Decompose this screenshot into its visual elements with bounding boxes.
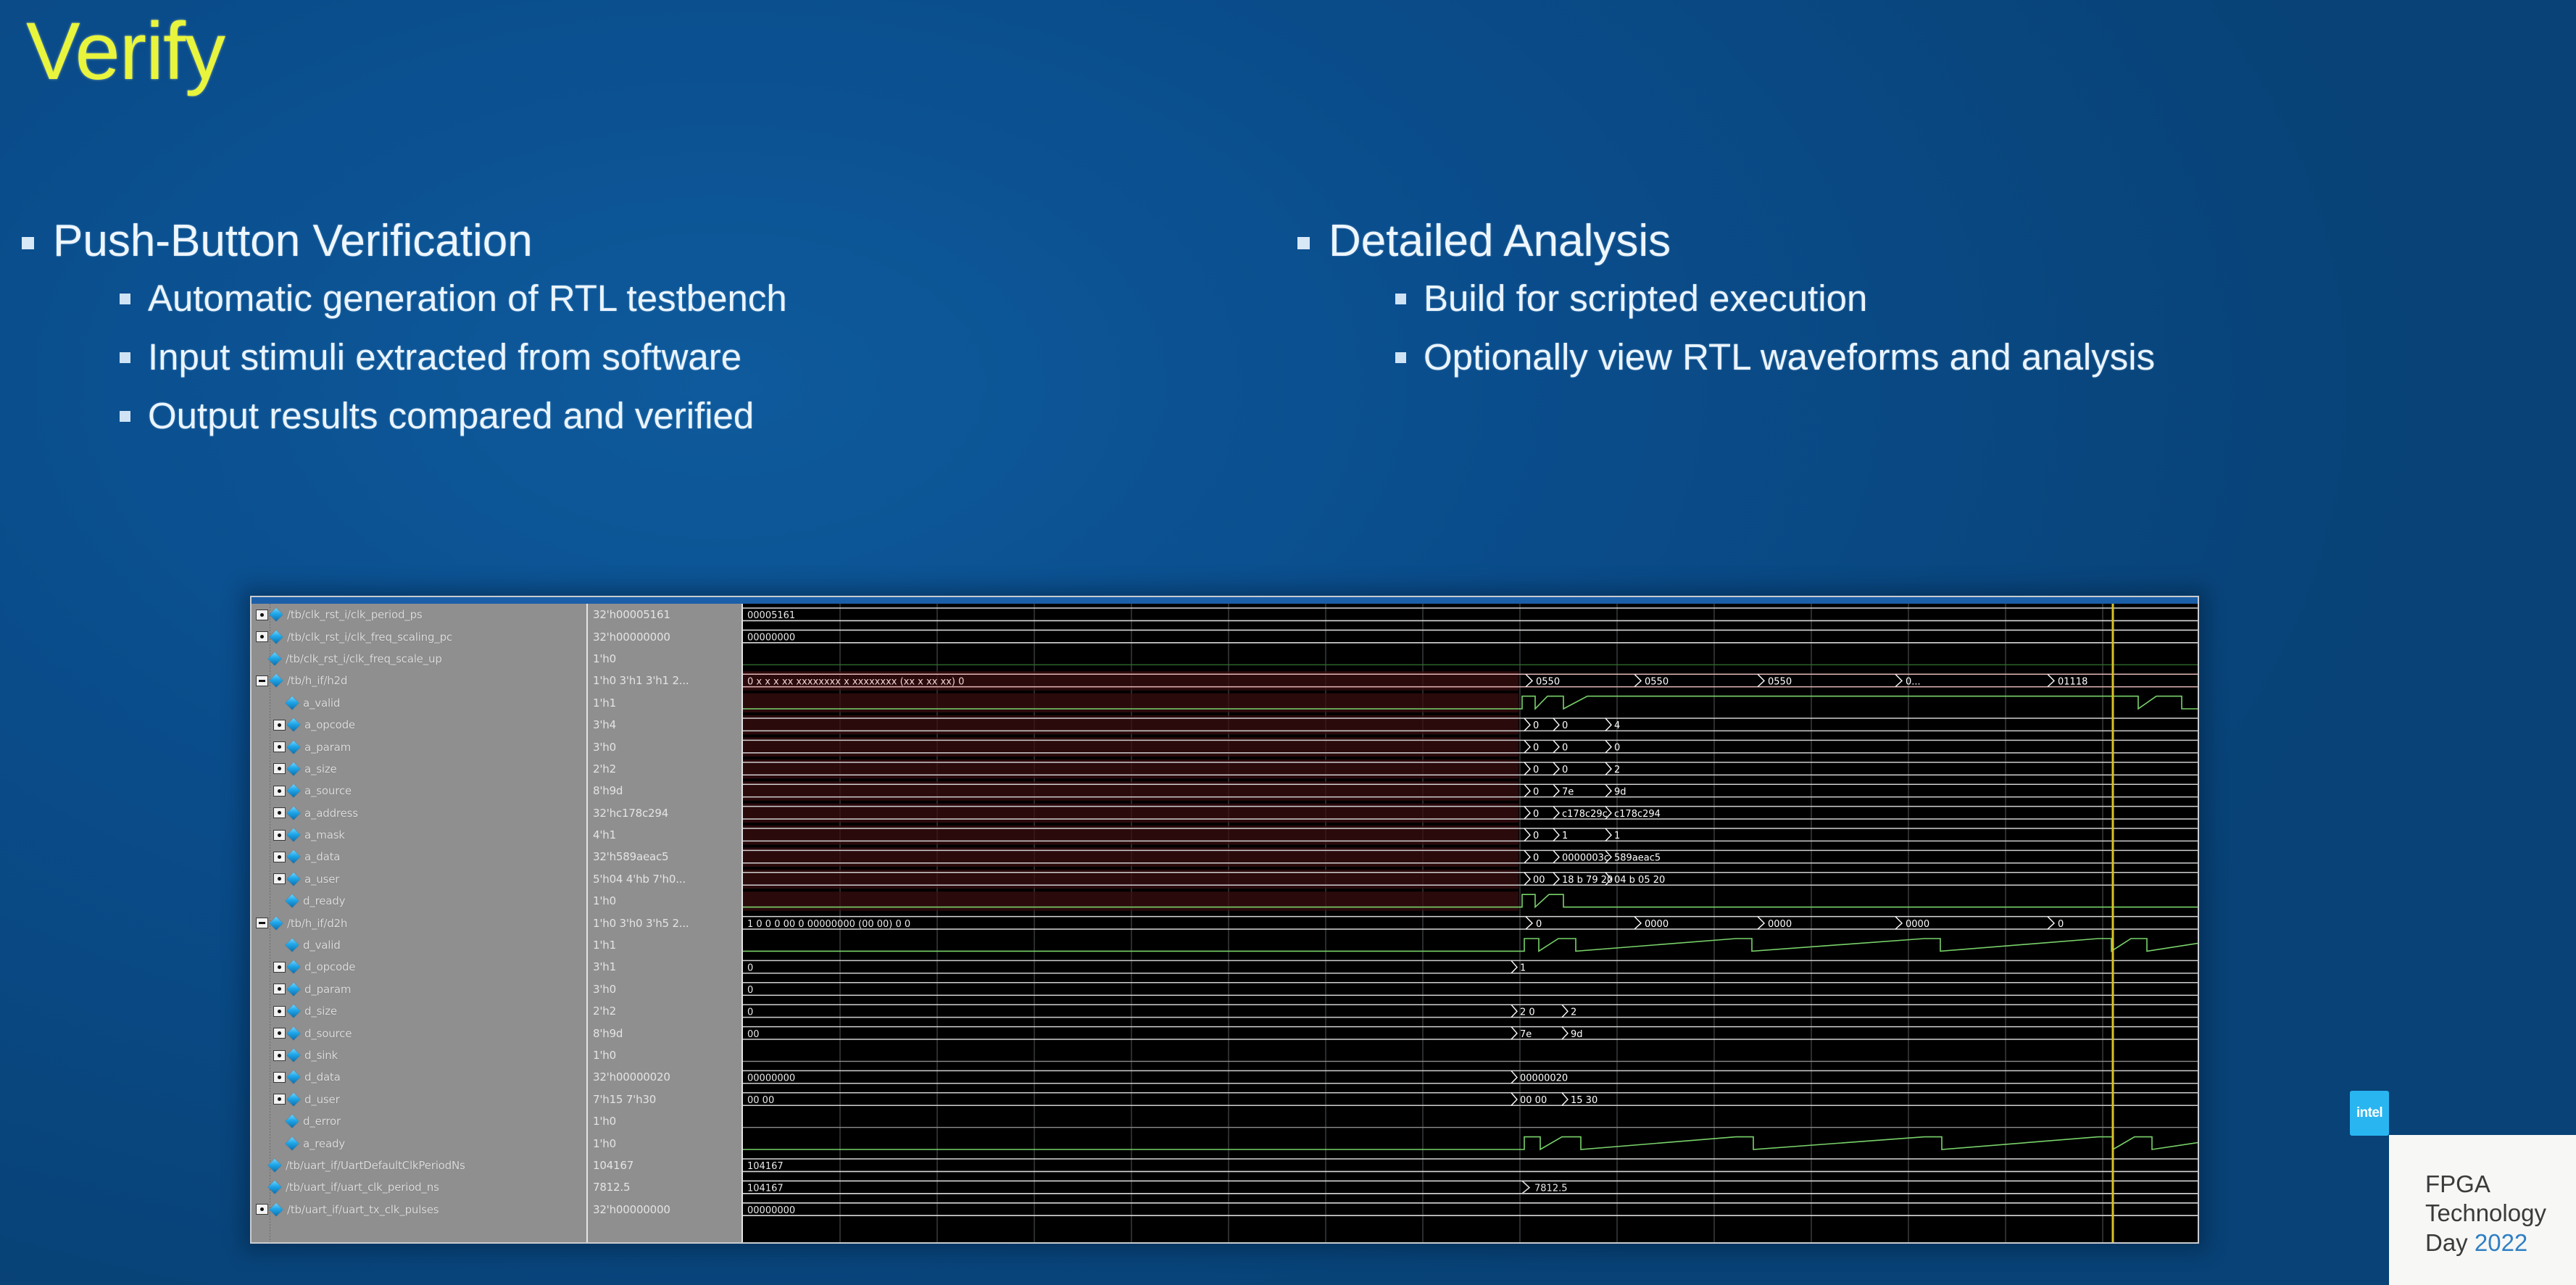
expand-icon[interactable]: [273, 1072, 286, 1083]
tree-leaf-icon: [273, 1117, 284, 1126]
signal-type-icon: [270, 1202, 283, 1216]
signal-value-label: 8'h9d: [588, 1027, 623, 1040]
signal-value-row: 8'h9d: [588, 780, 741, 802]
signal-row[interactable]: /tb/h_if/h2d: [252, 670, 586, 691]
svg-text:0: 0: [1533, 831, 1539, 841]
signal-value-row: 2'h2: [588, 1000, 741, 1022]
signal-name-label: d_sink: [304, 1049, 338, 1062]
svg-text:00000000: 00000000: [747, 1205, 795, 1216]
signal-type-icon: [286, 894, 299, 908]
signal-type-icon: [286, 696, 299, 710]
signal-name-label: a_opcode: [304, 718, 355, 731]
signal-value-label: 3'h4: [588, 718, 616, 731]
expand-icon[interactable]: [273, 741, 286, 752]
signal-value-row: 1'h0: [588, 1044, 741, 1066]
signal-row[interactable]: /tb/uart_if/UartDefaultClkPeriodNs: [252, 1155, 586, 1176]
expand-icon[interactable]: [256, 1204, 268, 1215]
signal-name-label: /tb/clk_rst_i/clk_freq_scaling_pc: [287, 631, 452, 644]
signal-value-row: 8'h9d: [588, 1022, 741, 1044]
waveform-canvas: 00005161000000000 x x x xx xxxxxxxx x xx…: [743, 604, 2198, 1242]
signal-value-label: 4'h1: [588, 828, 616, 841]
signal-type-icon: [287, 1049, 301, 1062]
tree-leaf-icon: [273, 698, 284, 707]
signal-value-row: 1'h1: [588, 692, 741, 714]
expand-icon[interactable]: [273, 763, 286, 774]
signal-row[interactable]: /tb/uart_if/uart_clk_period_ns: [252, 1176, 586, 1198]
signal-value-label: 104167: [588, 1159, 633, 1172]
signal-name-label: /tb/clk_rst_i/clk_period_ps: [287, 608, 423, 621]
svg-text:1: 1: [1614, 831, 1620, 841]
bullet-level2-label: Optionally view RTL waveforms and analys…: [1424, 336, 2155, 378]
expand-icon[interactable]: [273, 1028, 286, 1039]
event-year-label: 2022: [2475, 1229, 2527, 1256]
page-title: Verify: [26, 4, 225, 98]
signal-row[interactable]: d_ready: [252, 890, 586, 912]
tree-leaf-icon: [273, 897, 284, 906]
signal-row[interactable]: d_source: [252, 1022, 586, 1044]
signal-name-label: d_ready: [303, 894, 345, 907]
signal-type-icon: [286, 1115, 299, 1128]
signal-name-label: a_data: [304, 850, 340, 863]
signal-name-label: d_source: [304, 1027, 352, 1040]
bullet-level1-push-button-verification: Push-Button Verification: [22, 217, 1297, 266]
bullet-level2-label: Input stimuli extracted from software: [148, 336, 741, 378]
expand-icon[interactable]: [273, 873, 286, 884]
svg-text:15 30: 15 30: [1571, 1095, 1597, 1106]
signal-type-icon: [287, 1005, 301, 1018]
expand-icon[interactable]: [273, 852, 286, 862]
square-bullet-icon: [120, 294, 130, 304]
signal-row[interactable]: d_param: [252, 978, 586, 1000]
sub-bullet-list-right: Build for scripted execution Optionally …: [1395, 278, 2530, 378]
signal-name-label: a_address: [304, 807, 358, 820]
collapse-icon[interactable]: [256, 675, 268, 686]
svg-text:7e: 7e: [1520, 1029, 1532, 1040]
signal-value-list: 32'h0000516132'h000000001'h01'h0 3'h1 3'…: [588, 604, 741, 1220]
svg-text:2 0: 2 0: [1520, 1007, 1535, 1018]
signal-name-label: /tb/h_if/d2h: [287, 917, 347, 930]
signal-value-label: 3'h0: [588, 983, 616, 996]
event-line-technology: Technology: [2425, 1199, 2546, 1228]
signal-value-label: 32'h00005161: [588, 608, 670, 621]
expand-icon[interactable]: [273, 1050, 286, 1061]
signal-name-label: a_size: [304, 762, 337, 775]
signal-name-label: /tb/uart_if/uart_tx_clk_pulses: [287, 1203, 439, 1216]
signal-value-label: 32'h00000000: [588, 1203, 670, 1216]
svg-text:7812.5: 7812.5: [1534, 1184, 1568, 1194]
signal-name-label: /tb/uart_if/UartDefaultClkPeriodNs: [286, 1159, 465, 1172]
signal-row[interactable]: a_address: [252, 802, 586, 824]
signal-name-label: a_user: [304, 873, 339, 886]
svg-text:00005161: 00005161: [747, 610, 795, 621]
expand-icon[interactable]: [273, 983, 286, 994]
expand-icon[interactable]: [273, 807, 286, 818]
signal-type-icon: [268, 1159, 282, 1173]
signal-name-label: a_param: [304, 741, 351, 754]
svg-text:1: 1: [1520, 963, 1526, 974]
svg-text:0550: 0550: [1768, 676, 1792, 687]
signal-type-icon: [287, 850, 301, 864]
signal-value-row: 1'h0 3'h1 3'h1 2...: [588, 670, 741, 691]
signal-value-row: 32'h589aeac5: [588, 846, 741, 868]
svg-text:2: 2: [1571, 1007, 1576, 1018]
signal-row[interactable]: /tb/h_if/d2h: [252, 912, 586, 933]
bullet-level1-label: Detailed Analysis: [1329, 217, 1671, 266]
signal-value-label: 32'h00000020: [588, 1070, 670, 1084]
svg-text:0: 0: [1533, 765, 1539, 775]
tree-leaf-icon: [273, 941, 284, 950]
signal-value-row: 32'h00000000: [588, 1199, 741, 1220]
signal-value-label: 1'h1: [588, 696, 616, 710]
svg-text:2: 2: [1614, 765, 1620, 775]
svg-text:0: 0: [747, 1007, 753, 1018]
sub-bullet-list-left: Automatic generation of RTL testbench In…: [120, 278, 1297, 436]
signal-row[interactable]: d_sink: [252, 1044, 586, 1066]
signal-value-label: 2'h2: [588, 762, 616, 775]
svg-text:0: 0: [1533, 743, 1539, 754]
signal-row[interactable]: d_user: [252, 1089, 586, 1110]
bullet-level2-build-scripted: Build for scripted execution: [1395, 278, 2530, 319]
svg-text:0: 0: [747, 963, 753, 974]
signal-name-label: /tb/uart_if/uart_clk_period_ns: [286, 1181, 439, 1194]
svg-text:0: 0: [747, 985, 753, 996]
signal-type-icon: [268, 1181, 282, 1194]
signal-value-label: 32'h589aeac5: [588, 850, 668, 863]
signal-type-icon: [287, 828, 301, 842]
expand-icon[interactable]: [273, 786, 286, 797]
signal-value-label: 5'h04 4'hb 7'h0...: [588, 873, 686, 886]
signal-name-label: d_error: [303, 1115, 341, 1128]
signal-value-row: 32'hc178c294: [588, 802, 741, 824]
svg-text:589aeac5: 589aeac5: [1614, 853, 1661, 864]
event-day-label: Day: [2425, 1229, 2475, 1256]
svg-text:104167: 104167: [747, 1184, 784, 1194]
square-bullet-icon: [1395, 352, 1406, 363]
bullet-level2-label: Output results compared and verified: [148, 395, 754, 436]
svg-text:7e: 7e: [1562, 786, 1574, 797]
event-branding-panel: FPGA Technology Day 2022: [2389, 1135, 2576, 1285]
signal-type-icon: [287, 740, 301, 754]
svg-text:0000: 0000: [1906, 919, 1929, 930]
signal-name-label: d_data: [304, 1070, 341, 1084]
svg-text:0550: 0550: [1645, 676, 1669, 687]
signal-row[interactable]: /tb/clk_rst_i/clk_freq_scale_up: [252, 648, 586, 670]
bullet-level1-detailed-analysis: Detailed Analysis: [1297, 217, 2530, 266]
waveform-window-body: /tb/clk_rst_i/clk_period_ps/tb/clk_rst_i…: [252, 604, 2198, 1242]
signal-name-label: /tb/h_if/h2d: [287, 674, 347, 687]
svg-text:0 x x x xx xxxxxxxx x xxxxxxxx: 0 x x x xx xxxxxxxx x xxxxxxxx (xx x xx …: [747, 676, 964, 687]
signal-row[interactable]: a_user: [252, 868, 586, 890]
bullet-level2-output-results: Output results compared and verified: [120, 395, 1297, 436]
signal-value-row: 1'h0: [588, 1132, 741, 1154]
bullet-level2-label: Build for scripted execution: [1424, 278, 1867, 319]
signal-type-icon: [287, 1026, 301, 1040]
signal-type-icon: [287, 873, 301, 886]
signal-value-row: 32'h00000000: [588, 625, 741, 647]
signal-value-label: 7812.5: [588, 1181, 630, 1194]
signal-value-label: 2'h2: [588, 1005, 616, 1018]
tree-leaf-icon: [256, 1160, 267, 1170]
signal-value-row: 7812.5: [588, 1176, 741, 1198]
svg-text:0: 0: [1533, 720, 1539, 731]
svg-text:9d: 9d: [1571, 1029, 1583, 1040]
signal-value-row: 4'h1: [588, 824, 741, 846]
signal-name-label: d_param: [304, 983, 351, 996]
signal-type-icon: [287, 784, 301, 798]
svg-text:c178c29c: c178c29c: [1562, 809, 1608, 820]
square-bullet-icon: [120, 411, 130, 422]
signal-value-column: 32'h0000516132'h000000001'h01'h0 3'h1 3'…: [586, 604, 743, 1242]
signal-row[interactable]: /tb/clk_rst_i/clk_period_ps: [252, 604, 586, 625]
svg-text:0: 0: [1533, 809, 1539, 820]
signal-value-label: 1'h0: [588, 652, 616, 665]
signal-value-label: 7'h15 7'h30: [588, 1093, 656, 1106]
signal-value-row: 104167: [588, 1155, 741, 1176]
signal-type-icon: [287, 1093, 301, 1107]
square-bullet-icon: [1395, 294, 1406, 304]
event-line-fpga: FPGA: [2425, 1170, 2546, 1199]
collapse-icon[interactable]: [256, 918, 268, 928]
signal-value-label: 8'h9d: [588, 784, 623, 797]
expand-icon[interactable]: [273, 1006, 286, 1017]
event-branding-text: FPGA Technology Day 2022: [2425, 1170, 2546, 1257]
signal-value-row: 7'h15 7'h30: [588, 1089, 741, 1110]
event-line-day-year: Day 2022: [2425, 1228, 2546, 1257]
intel-logo: intel: [2350, 1091, 2389, 1136]
signal-type-icon: [287, 718, 301, 732]
signal-row[interactable]: a_valid: [252, 692, 586, 714]
svg-text:0: 0: [2058, 919, 2064, 930]
signal-type-icon: [270, 608, 283, 622]
signal-type-icon: [286, 1136, 299, 1150]
square-bullet-icon: [1297, 237, 1310, 249]
signal-value-row: 2'h2: [588, 758, 741, 780]
expand-icon[interactable]: [273, 1094, 286, 1105]
signal-type-icon: [270, 916, 283, 930]
svg-text:00: 00: [1533, 875, 1545, 886]
content-column-left: Push-Button Verification Automatic gener…: [22, 217, 1297, 454]
signal-type-icon: [287, 762, 301, 776]
slide-root: Verify Push-Button Verification Automati…: [0, 0, 2576, 1285]
intel-logo-text: intel: [2356, 1105, 2382, 1121]
signal-value-label: 32'h00000000: [588, 631, 670, 644]
signal-name-label: a_source: [304, 784, 352, 797]
svg-text:0...: 0...: [1906, 676, 1921, 687]
signal-name-label: d_opcode: [304, 960, 355, 973]
svg-text:00: 00: [747, 1029, 760, 1040]
signal-type-icon: [287, 1070, 301, 1084]
signal-value-row: 1'h0 3'h0 3'h5 2...: [588, 912, 741, 933]
tree-leaf-icon: [256, 1183, 267, 1192]
signal-row[interactable]: d_error: [252, 1110, 586, 1132]
signal-type-icon: [287, 806, 301, 820]
square-bullet-icon: [120, 352, 130, 363]
signal-row[interactable]: d_data: [252, 1066, 586, 1088]
svg-text:0: 0: [1614, 743, 1620, 754]
signal-row[interactable]: a_ready: [252, 1132, 586, 1154]
signal-name-label: a_valid: [303, 696, 340, 710]
svg-text:00000020: 00000020: [1520, 1073, 1568, 1084]
bullet-level2-label: Automatic generation of RTL testbench: [148, 278, 787, 319]
tree-leaf-icon: [273, 1139, 284, 1148]
signal-name-label: a_mask: [304, 828, 345, 841]
signal-value-row: 32'h00005161: [588, 604, 741, 625]
svg-text:18 b 79 20: 18 b 79 20: [1562, 875, 1613, 886]
signal-type-icon: [287, 960, 301, 974]
svg-text:c178c294: c178c294: [1614, 809, 1661, 820]
svg-text:00 00: 00 00: [1520, 1095, 1547, 1106]
signal-value-label: 3'h0: [588, 741, 616, 754]
expand-icon[interactable]: [273, 720, 286, 731]
signal-row[interactable]: a_param: [252, 736, 586, 757]
signal-name-list[interactable]: /tb/clk_rst_i/clk_period_ps/tb/clk_rst_i…: [252, 604, 586, 1220]
svg-text:01118: 01118: [2058, 676, 2087, 687]
square-bullet-icon: [22, 237, 34, 249]
signal-row[interactable]: a_source: [252, 780, 586, 802]
signal-value-label: 3'h1: [588, 960, 616, 973]
svg-text:00000000: 00000000: [747, 1073, 795, 1084]
svg-text:4: 4: [1614, 720, 1620, 731]
svg-text:0000: 0000: [1645, 919, 1669, 930]
signal-value-row: 1'h0: [588, 890, 741, 912]
svg-text:0: 0: [1536, 919, 1542, 930]
svg-text:0: 0: [1562, 743, 1568, 754]
signal-value-row: 1'h1: [588, 934, 741, 956]
svg-text:0: 0: [1533, 786, 1539, 797]
svg-text:0: 0: [1533, 853, 1539, 864]
signal-row[interactable]: d_opcode: [252, 956, 586, 978]
expand-icon[interactable]: [273, 830, 286, 841]
svg-text:00000000: 00000000: [747, 633, 795, 644]
svg-text:0: 0: [1562, 765, 1568, 775]
signal-value-row: 5'h04 4'hb 7'h0...: [588, 868, 741, 890]
svg-text:9d: 9d: [1614, 786, 1626, 797]
signal-name-label: /tb/clk_rst_i/clk_freq_scale_up: [286, 652, 442, 665]
bullet-level2-optionally-view-rtl: Optionally view RTL waveforms and analys…: [1395, 336, 2530, 378]
signal-row[interactable]: d_valid: [252, 934, 586, 956]
tree-leaf-icon: [256, 654, 267, 663]
content-column-right: Detailed Analysis Build for scripted exe…: [1297, 217, 2530, 395]
signal-type-icon: [270, 630, 283, 644]
svg-text:0550: 0550: [1536, 676, 1560, 687]
signal-row[interactable]: a_data: [252, 846, 586, 868]
signal-row[interactable]: /tb/uart_if/uart_tx_clk_pulses: [252, 1199, 586, 1220]
signal-value-row: 3'h1: [588, 956, 741, 978]
signal-value-row: 3'h4: [588, 714, 741, 736]
signal-type-icon: [270, 674, 283, 688]
signal-value-row: 3'h0: [588, 736, 741, 757]
bullet-level2-automatic-generation: Automatic generation of RTL testbench: [120, 278, 1297, 319]
signal-value-label: 1'h0 3'h1 3'h1 2...: [588, 674, 689, 687]
signal-value-label: 1'h0: [588, 894, 616, 907]
signal-value-row: 32'h00000020: [588, 1066, 741, 1088]
signal-name-label: d_valid: [303, 939, 341, 952]
signal-value-label: 32'hc178c294: [588, 807, 668, 820]
svg-text:0000: 0000: [1768, 919, 1792, 930]
signal-value-label: 1'h0: [588, 1049, 616, 1062]
signal-value-row: 3'h0: [588, 978, 741, 1000]
expand-icon[interactable]: [273, 962, 286, 973]
signal-row[interactable]: a_size: [252, 758, 586, 780]
signal-type-icon: [287, 983, 301, 997]
signal-name-column[interactable]: /tb/clk_rst_i/clk_period_ps/tb/clk_rst_i…: [252, 604, 586, 1242]
waveform-viewer-window[interactable]: /tb/clk_rst_i/clk_period_ps/tb/clk_rst_i…: [250, 596, 2199, 1244]
signal-name-label: a_ready: [303, 1137, 345, 1150]
signal-value-row: 1'h0: [588, 648, 741, 670]
signal-name-label: d_size: [304, 1005, 337, 1018]
expand-icon[interactable]: [256, 610, 268, 620]
svg-text:1: 1: [1562, 831, 1568, 841]
signal-value-label: 1'h0 3'h0 3'h5 2...: [588, 917, 689, 930]
signal-row[interactable]: a_opcode: [252, 714, 586, 736]
bullet-level1-label: Push-Button Verification: [53, 217, 533, 266]
signal-type-icon: [286, 939, 299, 952]
svg-text:00 00: 00 00: [747, 1095, 774, 1106]
signal-row[interactable]: /tb/clk_rst_i/clk_freq_scaling_pc: [252, 625, 586, 647]
bullet-level2-input-stimuli: Input stimuli extracted from software: [120, 336, 1297, 378]
signal-value-label: 1'h1: [588, 939, 616, 952]
svg-text:1 0 0 0 00 0 00000000 (00 00): 1 0 0 0 00 0 00000000 (00 00) 0 0: [747, 919, 910, 930]
waveform-window-titlebar: [252, 597, 2198, 604]
signal-name-label: d_user: [304, 1093, 340, 1106]
signal-value-row: 1'h0: [588, 1110, 741, 1132]
waveform-plot-area[interactable]: 00005161000000000 x x x xx xxxxxxxx x xx…: [743, 604, 2198, 1242]
signal-value-label: 1'h0: [588, 1115, 616, 1128]
expand-icon[interactable]: [256, 631, 268, 642]
svg-text:104167: 104167: [747, 1161, 784, 1172]
signal-row[interactable]: a_mask: [252, 824, 586, 846]
signal-type-icon: [268, 652, 282, 666]
svg-text:0: 0: [1562, 720, 1568, 731]
signal-row[interactable]: d_size: [252, 1000, 586, 1022]
svg-text:0000003c: 0000003c: [1562, 853, 1609, 864]
signal-value-label: 1'h0: [588, 1137, 616, 1150]
svg-text:04 b 05 20: 04 b 05 20: [1614, 875, 1665, 886]
